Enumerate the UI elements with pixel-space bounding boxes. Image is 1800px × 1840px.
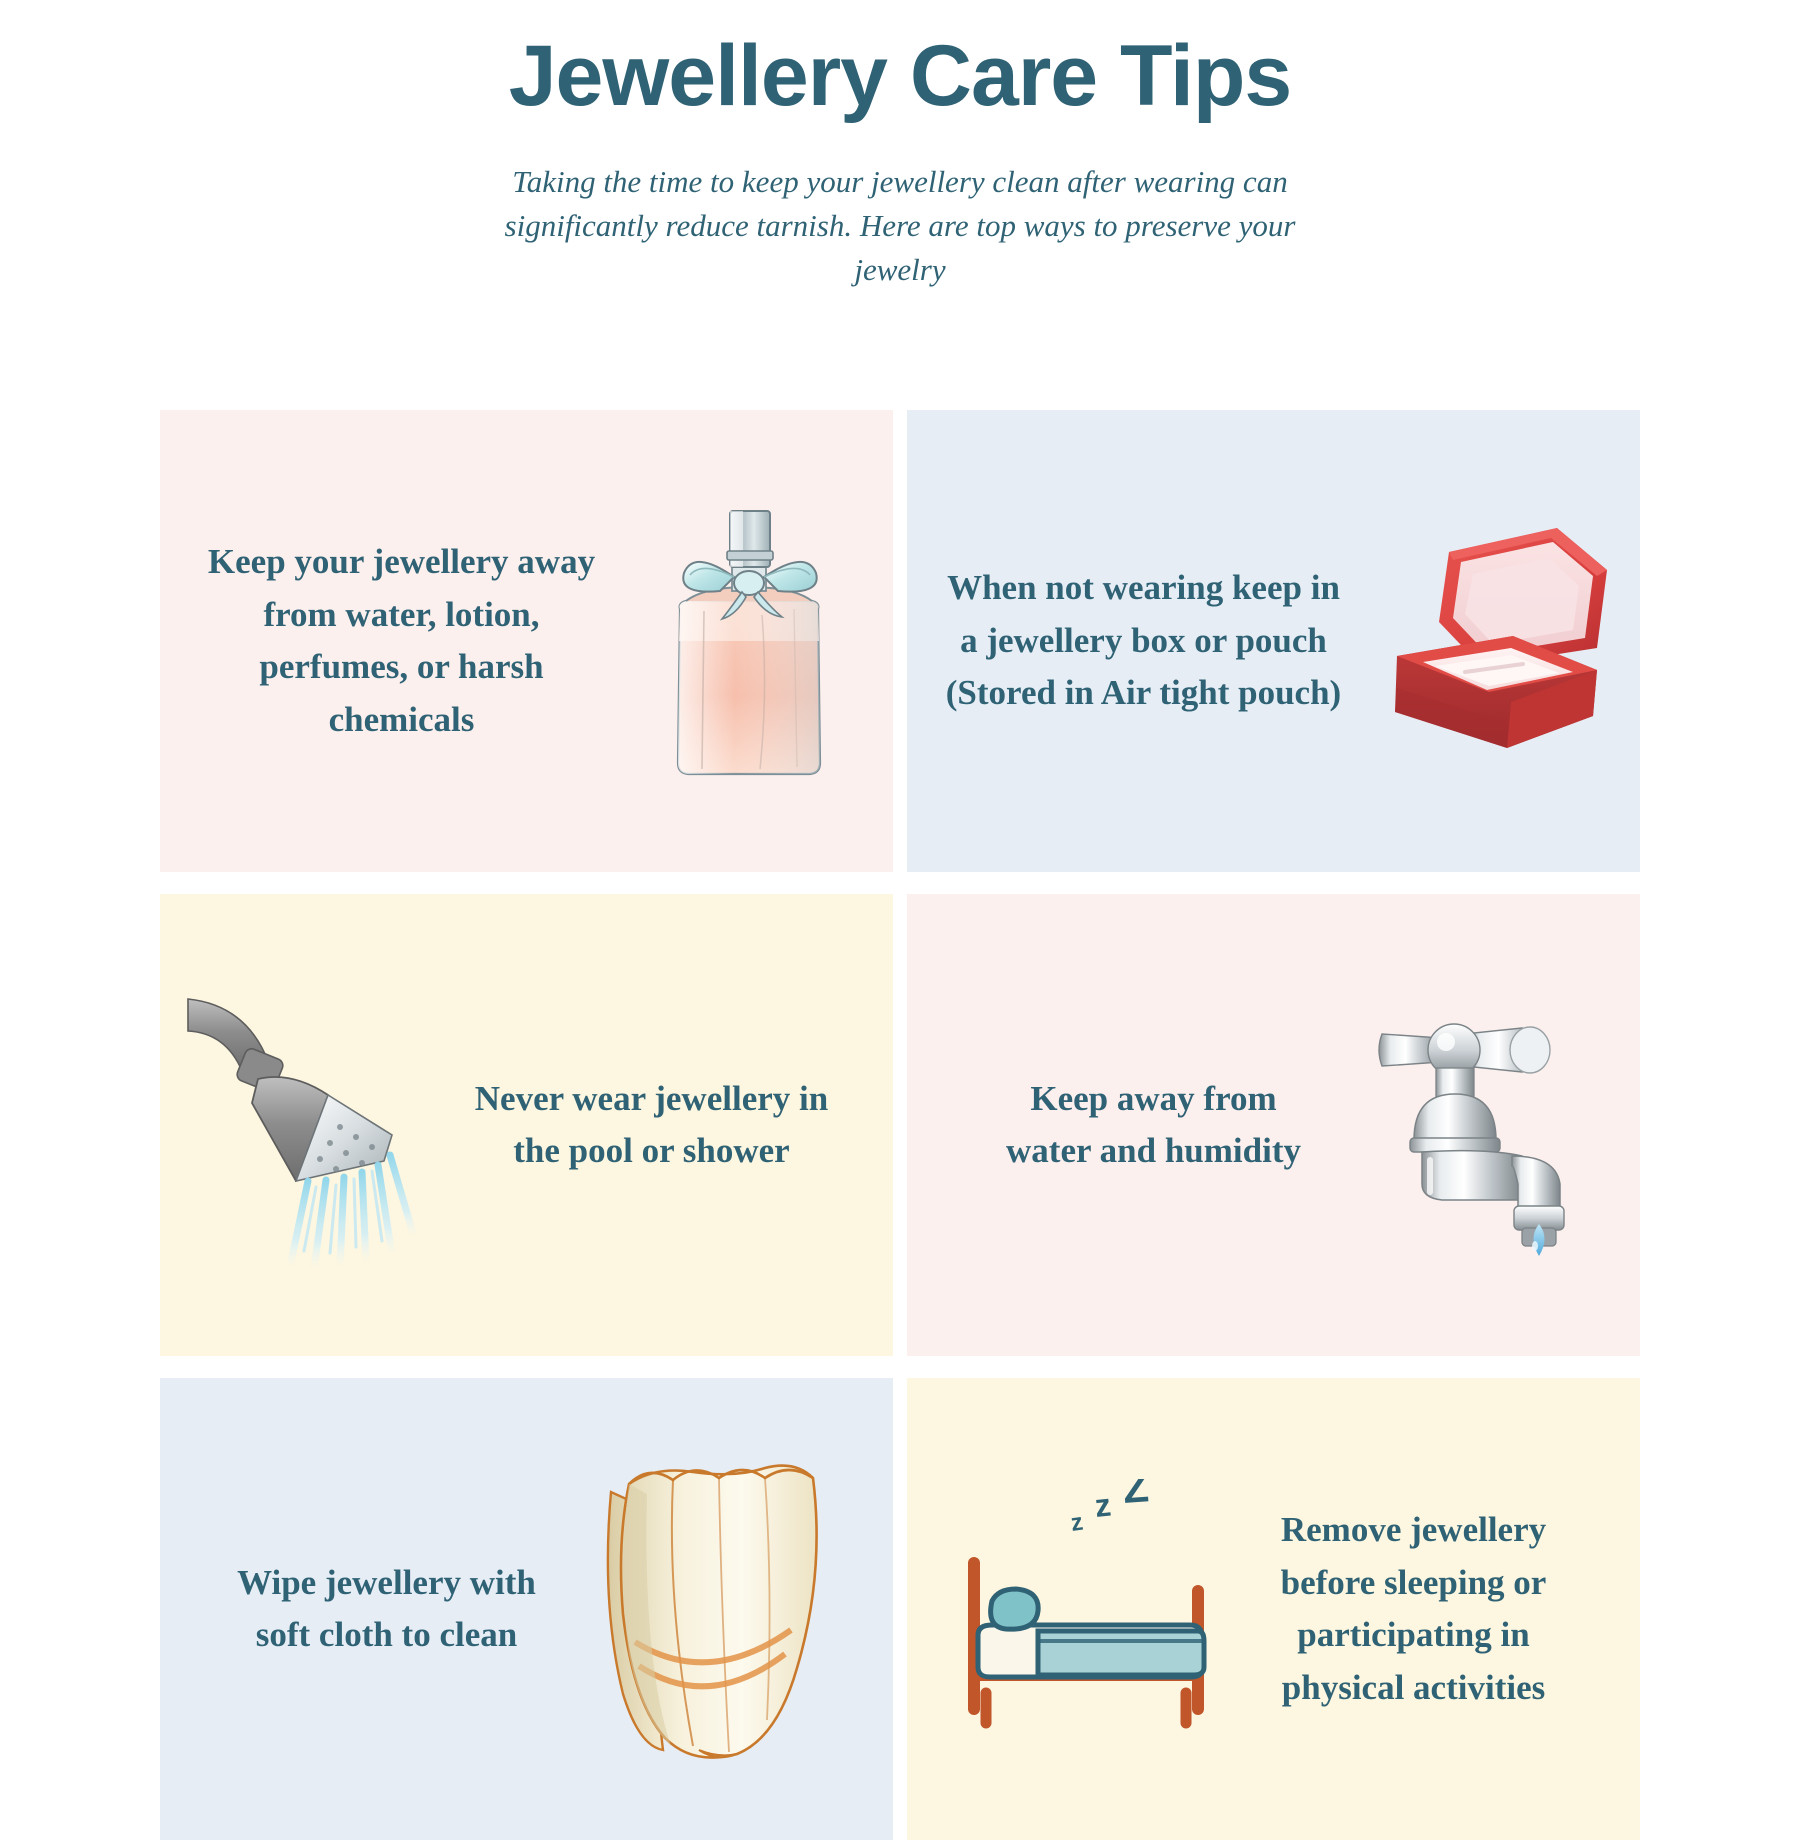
tip-card-cloth: Wipe jewellery with soft cloth to clean: [160, 1378, 893, 1840]
tip-text: Wipe jewellery with soft cloth to clean: [200, 1557, 574, 1662]
tip-text: Never wear jewellery in the pool or show…: [460, 1073, 844, 1178]
perfume-bottle-icon: [624, 491, 874, 791]
tip-card-sleep: Remove jewellery before sleeping or part…: [907, 1378, 1640, 1840]
tip-text: Keep away from water and humidity: [977, 1073, 1331, 1178]
header: Jewellery Care Tips Taking the time to k…: [0, 0, 1800, 292]
shower-head-icon: [170, 975, 460, 1275]
tip-text: Keep your jewellery away from water, lot…: [180, 536, 624, 746]
svg-text:Z: Z: [1121, 1479, 1150, 1512]
tip-text: Remove jewellery before sleeping or part…: [1237, 1504, 1591, 1714]
page-title: Jewellery Care Tips: [0, 28, 1800, 124]
tips-grid: Keep your jewellery away from water, lot…: [160, 410, 1640, 1840]
tip-card-jewellery-box: When not wearing keep in a jewellery box…: [907, 410, 1640, 872]
tip-card-perfume: Keep your jewellery away from water, lot…: [160, 410, 893, 872]
tip-card-shower: Never wear jewellery in the pool or show…: [160, 894, 893, 1356]
svg-text:z: z: [1069, 1509, 1085, 1537]
jewellery-box-icon: [1356, 516, 1636, 766]
infographic-page: Jewellery Care Tips Taking the time to k…: [0, 0, 1800, 1800]
tip-text: When not wearing keep in a jewellery box…: [932, 562, 1356, 720]
faucet-icon: [1331, 970, 1621, 1280]
bed-sleeping-icon: z z Z: [947, 1479, 1237, 1739]
cloth-icon: [584, 1454, 854, 1764]
page-subtitle: Taking the time to keep your jewellery c…: [500, 160, 1300, 292]
svg-text:z: z: [1092, 1486, 1112, 1523]
tip-card-faucet: Keep away from water and humidity: [907, 894, 1640, 1356]
